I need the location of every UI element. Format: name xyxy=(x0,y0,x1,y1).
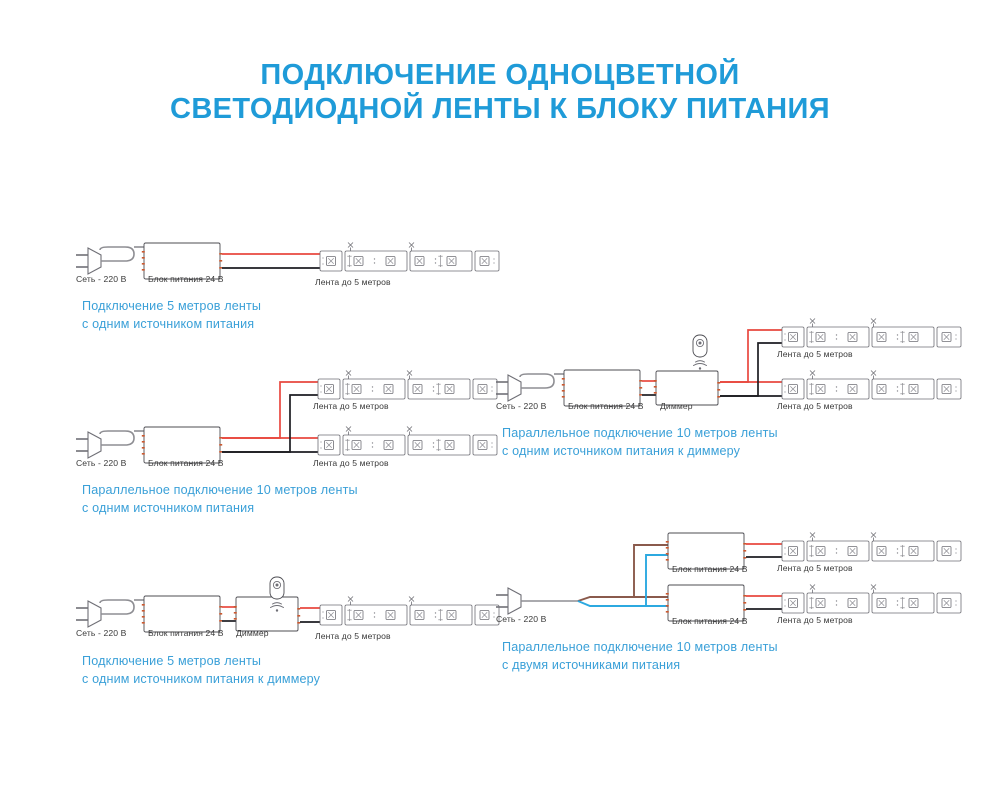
poster-canvas: ПОДКЛЮЧЕНИЕ ОДНОЦВЕТНОЙ СВЕТОДИОДНОЙ ЛЕН… xyxy=(0,0,1000,800)
diagram-1: Сеть - 220 В Блок питания 24 В Лента до … xyxy=(76,243,499,332)
led-strip-icon xyxy=(782,585,961,614)
caption-line-1: Параллельное подключение 10 метров ленты xyxy=(82,483,358,497)
caption-line-2: с двумя источниками питания xyxy=(502,658,680,672)
label-psu: Блок питания 24 В xyxy=(148,628,224,638)
label-dimmer: Диммер xyxy=(236,628,269,638)
wire-positive-branch-up xyxy=(222,382,318,438)
caption-line-2: с одним источником питания xyxy=(82,317,254,331)
label-mains: Сеть - 220 В xyxy=(76,458,127,468)
label-strip: Лента до 5 метров xyxy=(315,631,391,641)
diagram-4: Сеть - 220 В Блок питания 24 В Диммер Ле… xyxy=(496,319,961,459)
label-psu-bottom: Блок питания 24 В xyxy=(672,616,748,626)
label-strip-bottom: Лента до 5 метров xyxy=(777,401,853,411)
label-mains: Сеть - 220 В xyxy=(496,401,547,411)
label-psu-top: Блок питания 24 В xyxy=(672,564,748,574)
mains-plug-icon xyxy=(76,431,144,458)
dimmer-icon xyxy=(654,371,720,405)
diagram-layer: Сеть - 220 В Блок питания 24 В Лента до … xyxy=(0,0,1000,800)
label-strip-top: Лента до 5 метров xyxy=(313,401,389,411)
label-dimmer: Диммер xyxy=(660,401,693,411)
label-strip-bottom: Лента до 5 метров xyxy=(313,458,389,468)
led-strip-icon xyxy=(782,371,961,400)
mains-plug-icon xyxy=(496,588,578,614)
caption-line-2: с одним источником питания к диммеру xyxy=(82,672,321,686)
label-strip-top: Лента до 5 метров xyxy=(777,563,853,573)
led-strip-icon xyxy=(318,371,497,400)
led-strip-icon xyxy=(320,243,499,272)
wire-positive-branch-up xyxy=(720,330,782,382)
led-strip-icon xyxy=(782,533,961,562)
label-mains: Сеть - 220 В xyxy=(496,614,547,624)
wire-negative-branch-up xyxy=(222,395,318,452)
power-supply-icon xyxy=(142,596,222,632)
mains-plug-icon xyxy=(496,374,564,401)
caption-line-2: с одним источником питания к диммеру xyxy=(502,444,741,458)
dimmer-icon xyxy=(234,597,300,631)
led-strip-icon xyxy=(320,597,499,626)
label-strip-top: Лента до 5 метров xyxy=(777,349,853,359)
label-strip: Лента до 5 метров xyxy=(315,277,391,287)
label-strip-bottom: Лента до 5 метров xyxy=(777,615,853,625)
led-strip-icon xyxy=(318,427,497,456)
caption-line-1: Подключение 5 метров ленты xyxy=(82,654,261,668)
label-psu: Блок питания 24 В xyxy=(568,401,644,411)
wire-negative-branch-up xyxy=(720,343,782,396)
label-psu: Блок питания 24 В xyxy=(148,274,224,284)
diagram-2: Сеть - 220 В Блок питания 24 В Лента до … xyxy=(76,371,497,516)
led-strip-icon xyxy=(782,319,961,348)
diagram-5: Сеть - 220 В Блок питания 24 В Блок пита… xyxy=(496,533,961,673)
caption-line-2: с одним источником питания xyxy=(82,501,254,515)
label-psu: Блок питания 24 В xyxy=(148,458,224,468)
diagram-3: Сеть - 220 В Блок питания 24 В Диммер Ле… xyxy=(76,577,499,686)
caption-line-1: Подключение 5 метров ленты xyxy=(82,299,261,313)
mains-plug-icon xyxy=(76,600,144,627)
remote-control-icon xyxy=(693,335,707,370)
caption-line-1: Параллельное подключение 10 метров ленты xyxy=(502,426,778,440)
label-mains: Сеть - 220 В xyxy=(76,628,127,638)
wire-mains-blue-upper xyxy=(578,555,668,606)
mains-plug-icon xyxy=(76,247,144,274)
caption-line-1: Параллельное подключение 10 метров ленты xyxy=(502,640,778,654)
label-mains: Сеть - 220 В xyxy=(76,274,127,284)
wire-mains-brown-upper xyxy=(578,545,668,601)
